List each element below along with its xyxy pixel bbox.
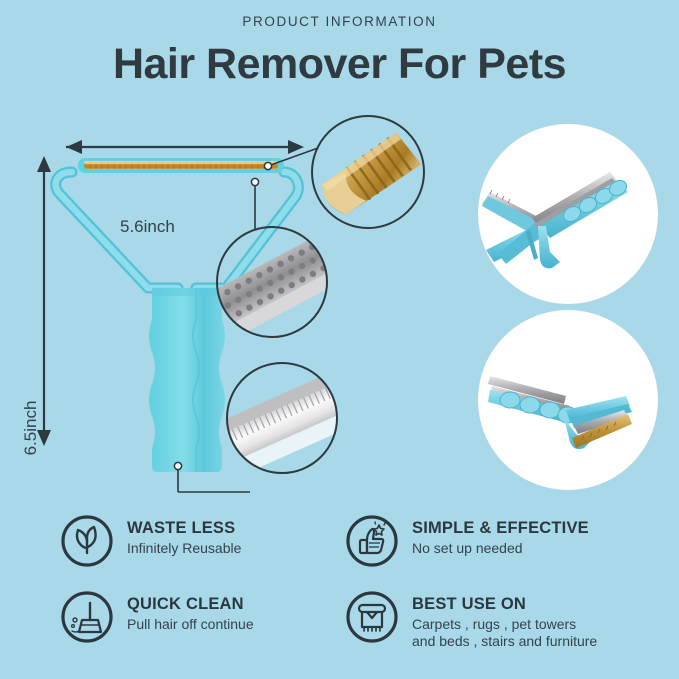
product-illustration (0, 100, 460, 500)
tool-handle (149, 288, 225, 472)
furniture-icon (345, 590, 399, 644)
feature-subtitle: No set up needed (412, 540, 589, 557)
feature-subtitle-line2: and beds , stairs and furniture (412, 633, 597, 650)
feature-item-quick-clean: QUICK CLEAN Pull hair off continue (60, 590, 254, 644)
infographic-page: PRODUCT INFORMATION Hair Remover For Pet… (0, 0, 679, 679)
feature-title: SIMPLE & EFFECTIVE (412, 519, 589, 538)
callout-gray-bristle-detail (204, 227, 348, 341)
dimension-width-label: 5.6inch (120, 217, 175, 237)
feature-item-simple-effective: SIMPLE & EFFECTIVE No set up needed (345, 514, 589, 568)
feature-item-best-use-on: BEST USE ON Carpets , rugs , pet towers … (345, 590, 597, 650)
gold-blade-bar (78, 158, 284, 173)
eyebrow-text: PRODUCT INFORMATION (0, 14, 679, 29)
feature-subtitle-line1: Carpets , rugs , pet towers (412, 616, 597, 633)
product-diagram: 5.6inch 6.5inch (0, 100, 460, 500)
feature-list: WASTE LESS Infinitely Reusable QUICK CLE… (0, 506, 679, 679)
product-photo-front (478, 124, 658, 304)
thumbs-up-icon (345, 514, 399, 568)
broom-icon (60, 590, 114, 644)
feature-title: WASTE LESS (127, 519, 241, 538)
feature-subtitle: Pull hair off continue (127, 616, 254, 633)
product-photo-reverse (478, 310, 658, 490)
feature-title: BEST USE ON (412, 595, 597, 614)
callout-gold-blade-detail (312, 116, 424, 228)
feature-item-waste-less: WASTE LESS Infinitely Reusable (60, 514, 241, 568)
callout-white-blade-detail (211, 363, 364, 479)
feature-subtitle: Infinitely Reusable (127, 540, 241, 557)
dimension-height-label: 6.5inch (21, 383, 41, 473)
feature-title: QUICK CLEAN (127, 595, 254, 614)
leaf-icon (60, 514, 114, 568)
dimension-width-arrow (66, 140, 304, 154)
page-title: Hair Remover For Pets (0, 38, 679, 90)
